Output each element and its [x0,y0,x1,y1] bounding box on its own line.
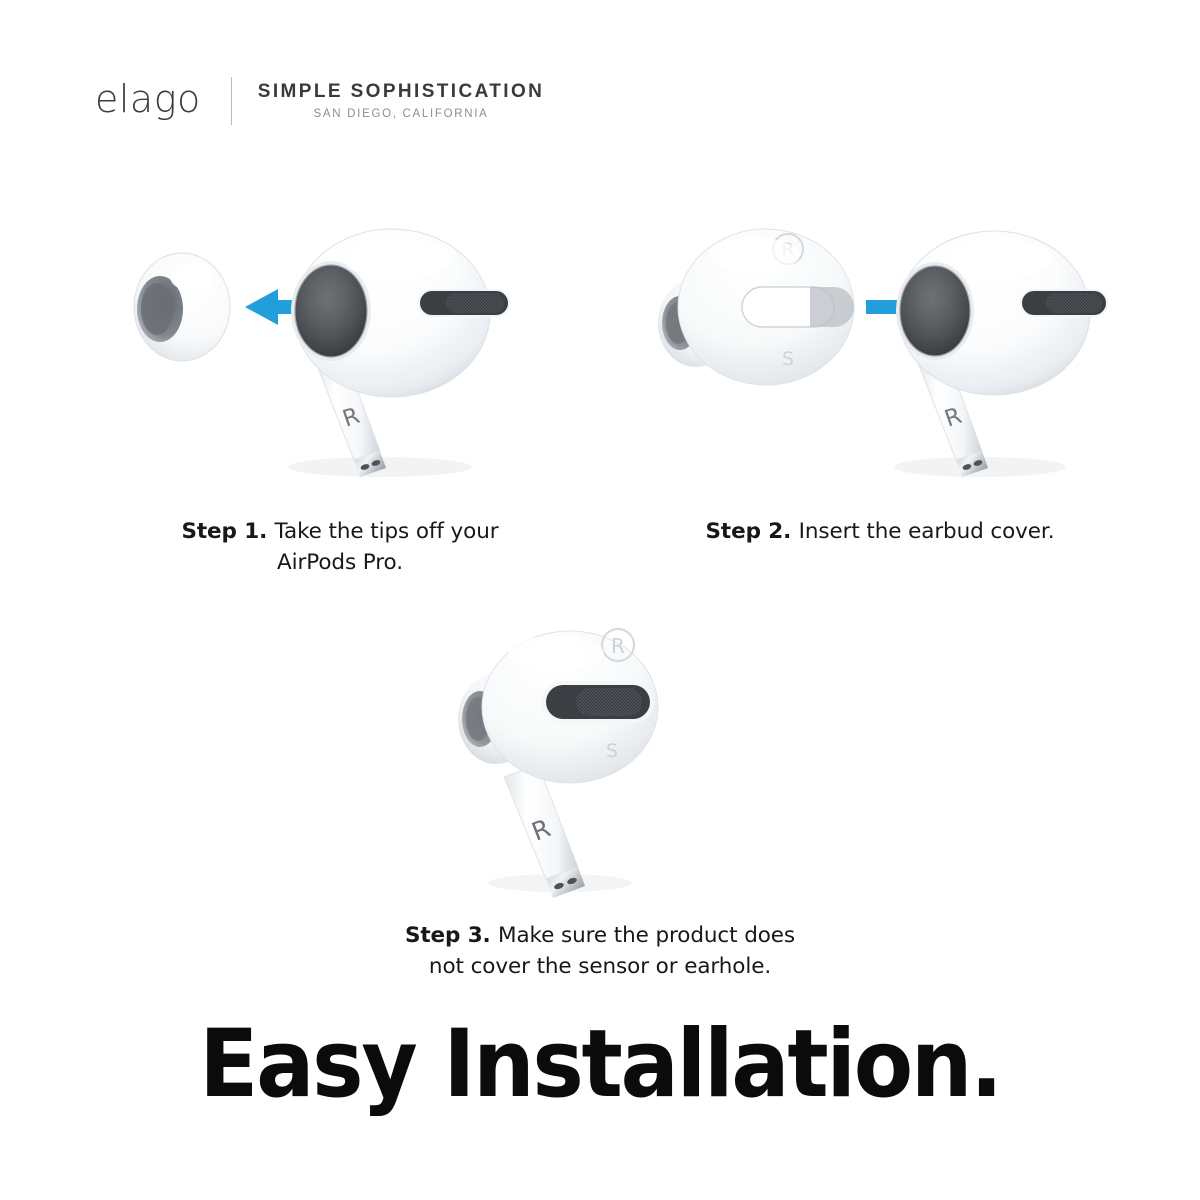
step-2-label: Step 2. [706,519,799,544]
step-2-caption: Step 2. Insert the earbud cover. [660,517,1100,548]
earbud-cover: R S [658,229,854,385]
vent-sensor-slot [418,289,510,317]
step-2-illustration: R S R [650,215,1110,495]
cover-marking-s: S [782,348,794,370]
sensor-cutout [742,287,854,327]
brand-tagline: SIMPLE SOPHISTICATION SAN DIEGO, CALIFOR… [258,81,545,122]
elago-logo: elago [95,80,201,122]
silicone-ear-tip [134,253,230,361]
airpod-pro-body: R [896,231,1108,477]
step-1-text: Take the tips off your AirPods Pro. [275,519,499,575]
step-3-illustration: R R S [440,615,760,905]
step-3-label: Step 3. [405,923,498,948]
cover-marking-s: S [606,740,618,762]
step-1-caption: Step 1. Take the tips off your AirPods P… [175,517,505,578]
step-3-caption: Step 3. Make sure the product does not c… [385,921,815,982]
header-divider [231,77,232,125]
tagline-location: SAN DIEGO, CALIFORNIA [314,108,489,122]
tagline-primary: SIMPLE SOPHISTICATION [258,81,545,103]
vent-sensor-slot [542,681,654,723]
step-1-illustration: R [130,215,550,495]
vent-sensor-slot [1020,289,1108,317]
speaker-grille [896,262,974,360]
airpod-with-cover: R S [458,629,658,783]
headline-easy-installation: Easy Installation. [48,1018,1152,1112]
svg-text:R: R [611,634,625,658]
step-2-panel: R S R [645,215,1115,548]
brand-header: elago SIMPLE SOPHISTICATION SAN DIEGO, C… [95,72,544,130]
step-1-panel: R Step 1. Take the tips off [120,215,560,578]
step-2-text: Insert the earbud cover. [799,519,1055,544]
speaker-grille [291,261,371,361]
step-1-label: Step 1. [181,519,274,544]
step-3-panel: R R S Step [380,615,820,982]
airpod-pro-body: R [291,229,510,477]
